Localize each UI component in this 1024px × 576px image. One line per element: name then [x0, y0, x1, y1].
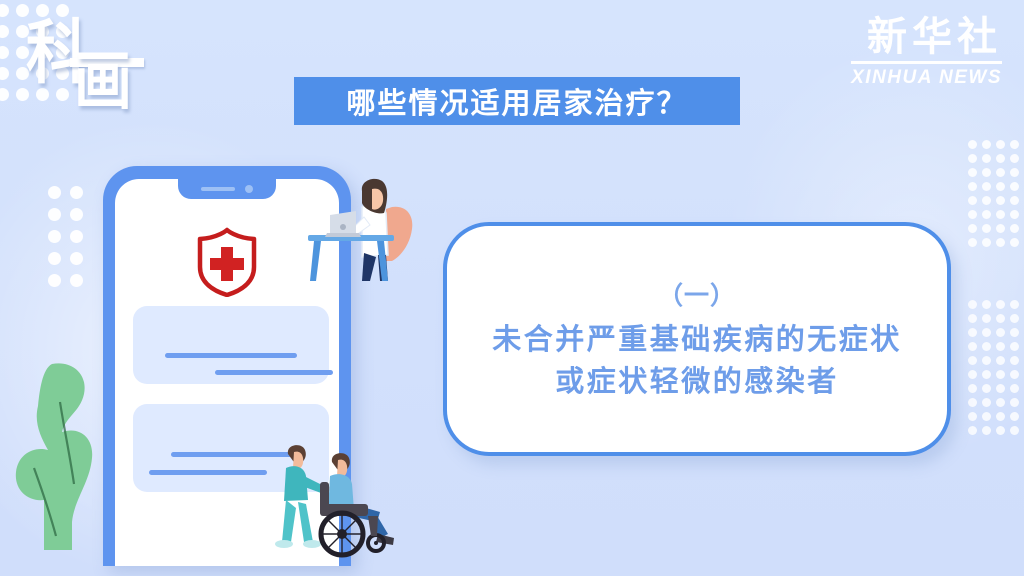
- medical-shield-cross-icon: [196, 227, 258, 297]
- dot: [1010, 182, 1019, 191]
- dot: [996, 398, 1005, 407]
- phone-camera-icon: [245, 185, 253, 193]
- agency-logo-rule: [851, 61, 1002, 64]
- page-title: 哪些情况适用居家治疗？: [346, 80, 687, 122]
- dot: [996, 426, 1005, 435]
- dot: [982, 370, 991, 379]
- dot: [70, 230, 83, 243]
- dot: [968, 224, 977, 233]
- title-banner: 哪些情况适用居家治疗？: [294, 77, 740, 125]
- dot: [1010, 328, 1019, 337]
- phone-content-card-1: [133, 306, 329, 384]
- dot: [48, 252, 61, 265]
- dot: [982, 314, 991, 323]
- dot: [1010, 426, 1019, 435]
- dot: [1010, 412, 1019, 421]
- dot: [982, 342, 991, 351]
- dot: [996, 314, 1005, 323]
- dot: [968, 238, 977, 247]
- dot: [982, 384, 991, 393]
- agency-logo-en: XINHUA NEWS: [851, 67, 1002, 89]
- dot: [982, 210, 991, 219]
- dot: [982, 398, 991, 407]
- dot: [996, 342, 1005, 351]
- phone-card-line: [215, 370, 333, 375]
- dot: [996, 154, 1005, 163]
- dot: [1010, 370, 1019, 379]
- dot: [982, 168, 991, 177]
- dot: [1010, 168, 1019, 177]
- dot: [982, 140, 991, 149]
- dot: [70, 252, 83, 265]
- dot: [1010, 384, 1019, 393]
- phone-card-line: [149, 470, 267, 475]
- dot: [48, 230, 61, 243]
- dot: [968, 328, 977, 337]
- dot-grid-right-lower: [968, 300, 1024, 480]
- dot: [968, 370, 977, 379]
- dot: [1010, 224, 1019, 233]
- dot: [968, 168, 977, 177]
- dot: [996, 370, 1005, 379]
- dot: [0, 67, 9, 80]
- dot: [968, 140, 977, 149]
- dot: [1010, 398, 1019, 407]
- dot: [996, 238, 1005, 247]
- dot-grid-left: [48, 186, 96, 296]
- dot: [1010, 196, 1019, 205]
- program-logo: 科 画: [26, 14, 156, 122]
- dot: [982, 154, 991, 163]
- plant-decoration: [0, 350, 116, 560]
- dot: [968, 384, 977, 393]
- dot: [1010, 154, 1019, 163]
- dot: [996, 328, 1005, 337]
- dot: [968, 182, 977, 191]
- program-logo-char-2: 画: [74, 49, 130, 113]
- dot: [968, 426, 977, 435]
- dot: [982, 426, 991, 435]
- dot: [982, 224, 991, 233]
- info-card-line-2: 或症状轻微的感染者: [555, 360, 839, 402]
- phone-speaker: [201, 187, 235, 191]
- dot: [982, 238, 991, 247]
- dot: [0, 4, 9, 17]
- info-card-line-1: 未合并严重基础疾病的无症状: [492, 318, 902, 360]
- dot: [70, 208, 83, 221]
- agency-logo: 新华社 XINHUA NEWS: [851, 16, 1002, 89]
- dot: [968, 300, 977, 309]
- dot: [982, 412, 991, 421]
- dot: [982, 196, 991, 205]
- dot: [996, 210, 1005, 219]
- dot: [0, 88, 9, 101]
- dot: [968, 342, 977, 351]
- dot: [48, 208, 61, 221]
- info-card-index: （一）: [658, 276, 736, 312]
- dot: [1010, 140, 1019, 149]
- dot-grid-right-upper: [968, 140, 1024, 290]
- infographic-canvas: 科 画 新华社 XINHUA NEWS 哪些情况适用居家治疗？: [0, 0, 1024, 576]
- dot: [1010, 238, 1019, 247]
- info-card: （一） 未合并严重基础疾病的无症状 或症状轻微的感染者: [443, 222, 951, 456]
- dot: [968, 356, 977, 365]
- dot: [70, 186, 83, 199]
- dot: [1010, 210, 1019, 219]
- phone-notch: [178, 179, 276, 199]
- dot: [996, 300, 1005, 309]
- dot: [996, 168, 1005, 177]
- dot: [996, 384, 1005, 393]
- dot: [70, 274, 83, 287]
- nurse-wheelchair-scene: [258, 438, 394, 560]
- dot: [48, 186, 61, 199]
- dot: [982, 300, 991, 309]
- dot: [968, 314, 977, 323]
- dot: [996, 224, 1005, 233]
- dot: [0, 46, 9, 59]
- dot: [968, 154, 977, 163]
- dot: [996, 140, 1005, 149]
- doctor-at-desk-scene: [300, 165, 432, 287]
- dot: [996, 356, 1005, 365]
- dot: [1010, 314, 1019, 323]
- dot: [48, 274, 61, 287]
- dot: [982, 328, 991, 337]
- agency-logo-cn: 新华社: [851, 16, 1002, 58]
- dot: [1010, 356, 1019, 365]
- dot: [996, 412, 1005, 421]
- dot: [968, 196, 977, 205]
- dot: [1010, 342, 1019, 351]
- phone-card-line: [165, 353, 297, 358]
- dot: [968, 412, 977, 421]
- dot: [982, 182, 991, 191]
- dot: [996, 182, 1005, 191]
- dot: [982, 356, 991, 365]
- dot: [968, 398, 977, 407]
- dot: [1010, 300, 1019, 309]
- dot: [0, 25, 9, 38]
- dot: [968, 210, 977, 219]
- dot: [996, 196, 1005, 205]
